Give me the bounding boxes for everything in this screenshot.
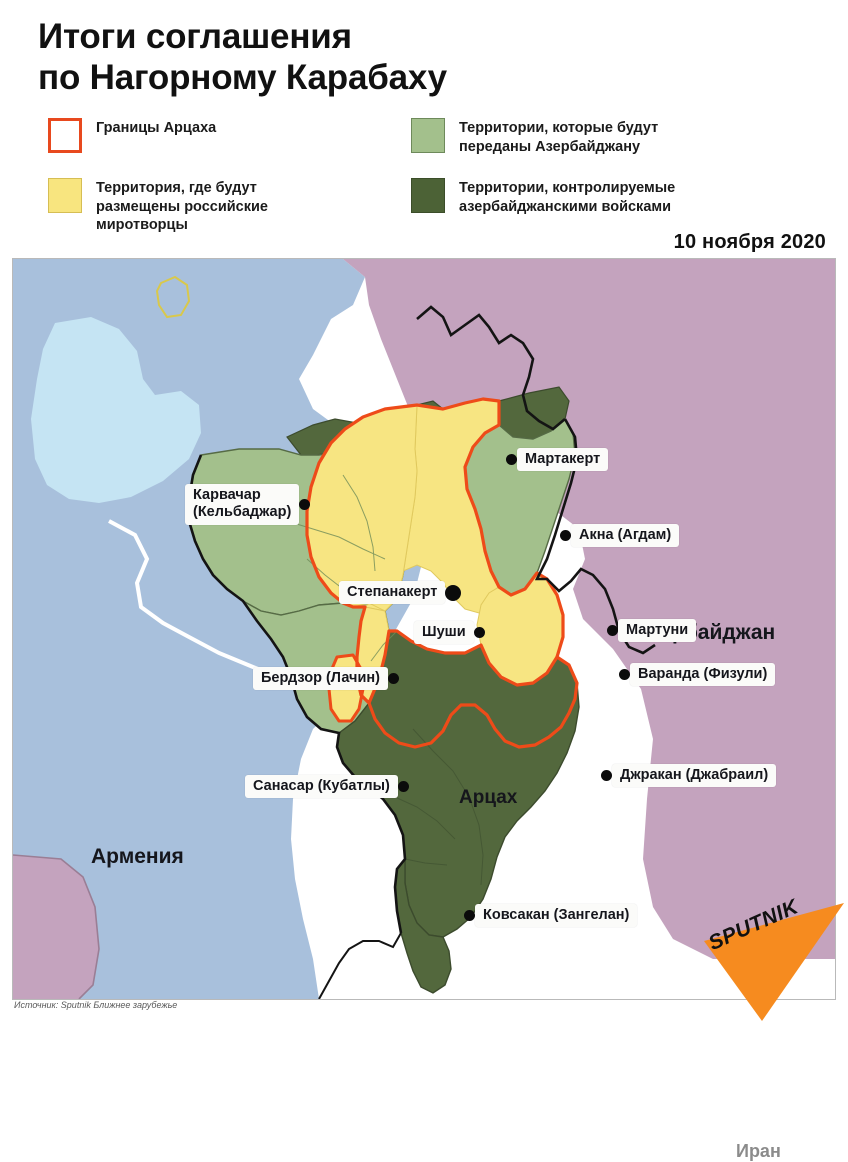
- legend-label-controlled: Территории, контролируемые азербайджанск…: [459, 178, 675, 216]
- legend-item-controlled: Территории, контролируемые азербайджанск…: [411, 178, 675, 216]
- header: Итоги соглашения по Нагорному Карабаху Г…: [0, 0, 848, 258]
- legend-label-artsakh-border: Границы Арцаха: [96, 118, 216, 138]
- date-label: 10 ноября 2020: [674, 231, 826, 254]
- legend-swatch-outline-orange: [48, 118, 82, 153]
- map-frame: Армения Азербайджан Арцах Иран Мартакерт…: [12, 258, 836, 1000]
- legend-swatch-yellow: [48, 178, 82, 213]
- legend-item-peacekeepers: Территория, где будут размещены российск…: [48, 178, 268, 235]
- border-state-south: [319, 933, 401, 999]
- sputnik-logo: SPUTNIK: [700, 903, 848, 1021]
- legend-label-peacekeepers: Территория, где будут размещены российск…: [96, 178, 268, 235]
- legend-swatch-dark-green: [411, 178, 445, 213]
- legend-item-transferred: Территории, которые будут переданы Азерб…: [411, 118, 658, 156]
- page-title: Итоги соглашения по Нагорному Карабаху: [38, 16, 738, 99]
- legend: Границы Арцаха Территория, где будут раз…: [38, 118, 828, 228]
- legend-swatch-light-green: [411, 118, 445, 153]
- map-graphic: [13, 259, 835, 999]
- source-attribution: Источник: Sputnik Ближнее зарубежье: [14, 1000, 177, 1010]
- legend-label-transferred: Территории, которые будут переданы Азерб…: [459, 118, 658, 156]
- country-label-iran: Иран: [736, 1141, 781, 1162]
- legend-item-artsakh-border: Границы Арцаха: [48, 118, 216, 153]
